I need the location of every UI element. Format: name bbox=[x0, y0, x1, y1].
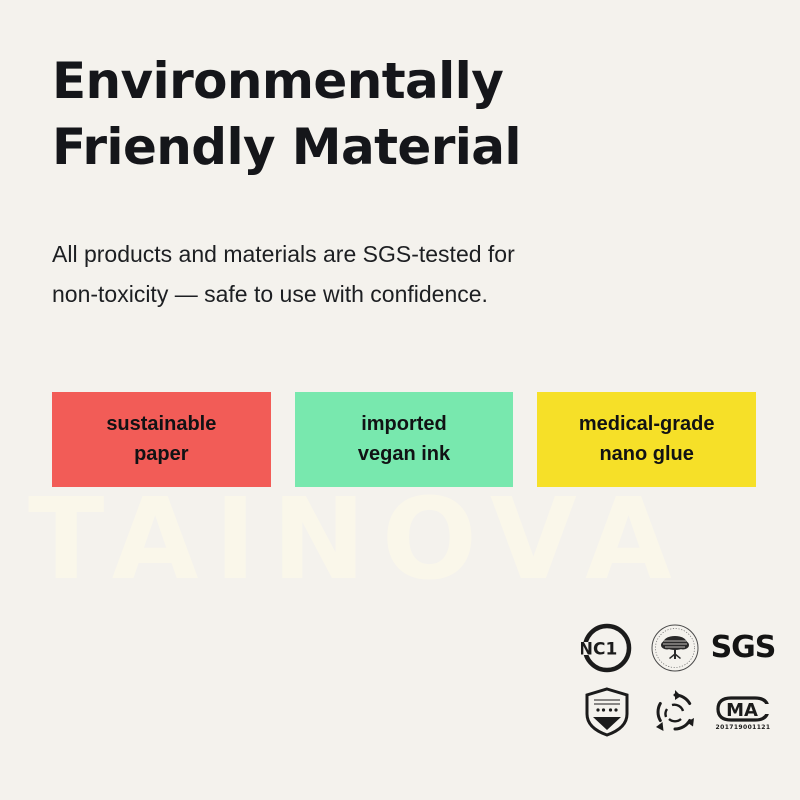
certification-badge-grid: NC1 bbox=[575, 618, 775, 742]
shield-certification-icon bbox=[578, 683, 636, 741]
page-title-line-1: Environmentally bbox=[52, 48, 732, 114]
brand-watermark: TAINOVA bbox=[28, 484, 788, 596]
chip-label-line-2: vegan ink bbox=[358, 442, 450, 467]
material-chip-list: sustainable paper imported vegan ink med… bbox=[52, 392, 756, 487]
chip-label-line-2: paper bbox=[134, 442, 188, 467]
page-title-line-2: Friendly Material bbox=[52, 114, 732, 180]
cma-mark-icon: MA 201719001121 bbox=[714, 683, 772, 741]
page-subtitle-line-1: All products and materials are SGS-teste… bbox=[52, 234, 692, 274]
promo-banner: TAINOVA Environmentally Friendly Materia… bbox=[0, 0, 800, 800]
material-chip-imported-vegan-ink: imported vegan ink bbox=[295, 392, 514, 487]
cma-certificate-number: 201719001121 bbox=[716, 725, 771, 731]
nc1-circle-icon: NC1 bbox=[578, 619, 636, 677]
page-subtitle: All products and materials are SGS-teste… bbox=[52, 234, 692, 315]
chip-label-line-2: nano glue bbox=[599, 442, 693, 467]
chip-label-line-1: imported bbox=[361, 412, 447, 437]
material-chip-sustainable-paper: sustainable paper bbox=[52, 392, 271, 487]
material-chip-medical-grade-nano-glue: medical-grade nano glue bbox=[537, 392, 756, 487]
sgs-wordmark-icon: SGS bbox=[714, 619, 772, 677]
page-subtitle-line-2: non-toxicity — safe to use with confiden… bbox=[52, 274, 692, 314]
page-title: Environmentally Friendly Material bbox=[52, 48, 732, 180]
chip-label-line-1: sustainable bbox=[106, 412, 216, 437]
svg-text:NC1: NC1 bbox=[581, 640, 617, 660]
forest-tree-seal-icon bbox=[646, 619, 704, 677]
recycling-loop-icon bbox=[646, 683, 704, 741]
svg-text:MA: MA bbox=[726, 700, 758, 721]
chip-label-line-1: medical-grade bbox=[579, 412, 715, 437]
